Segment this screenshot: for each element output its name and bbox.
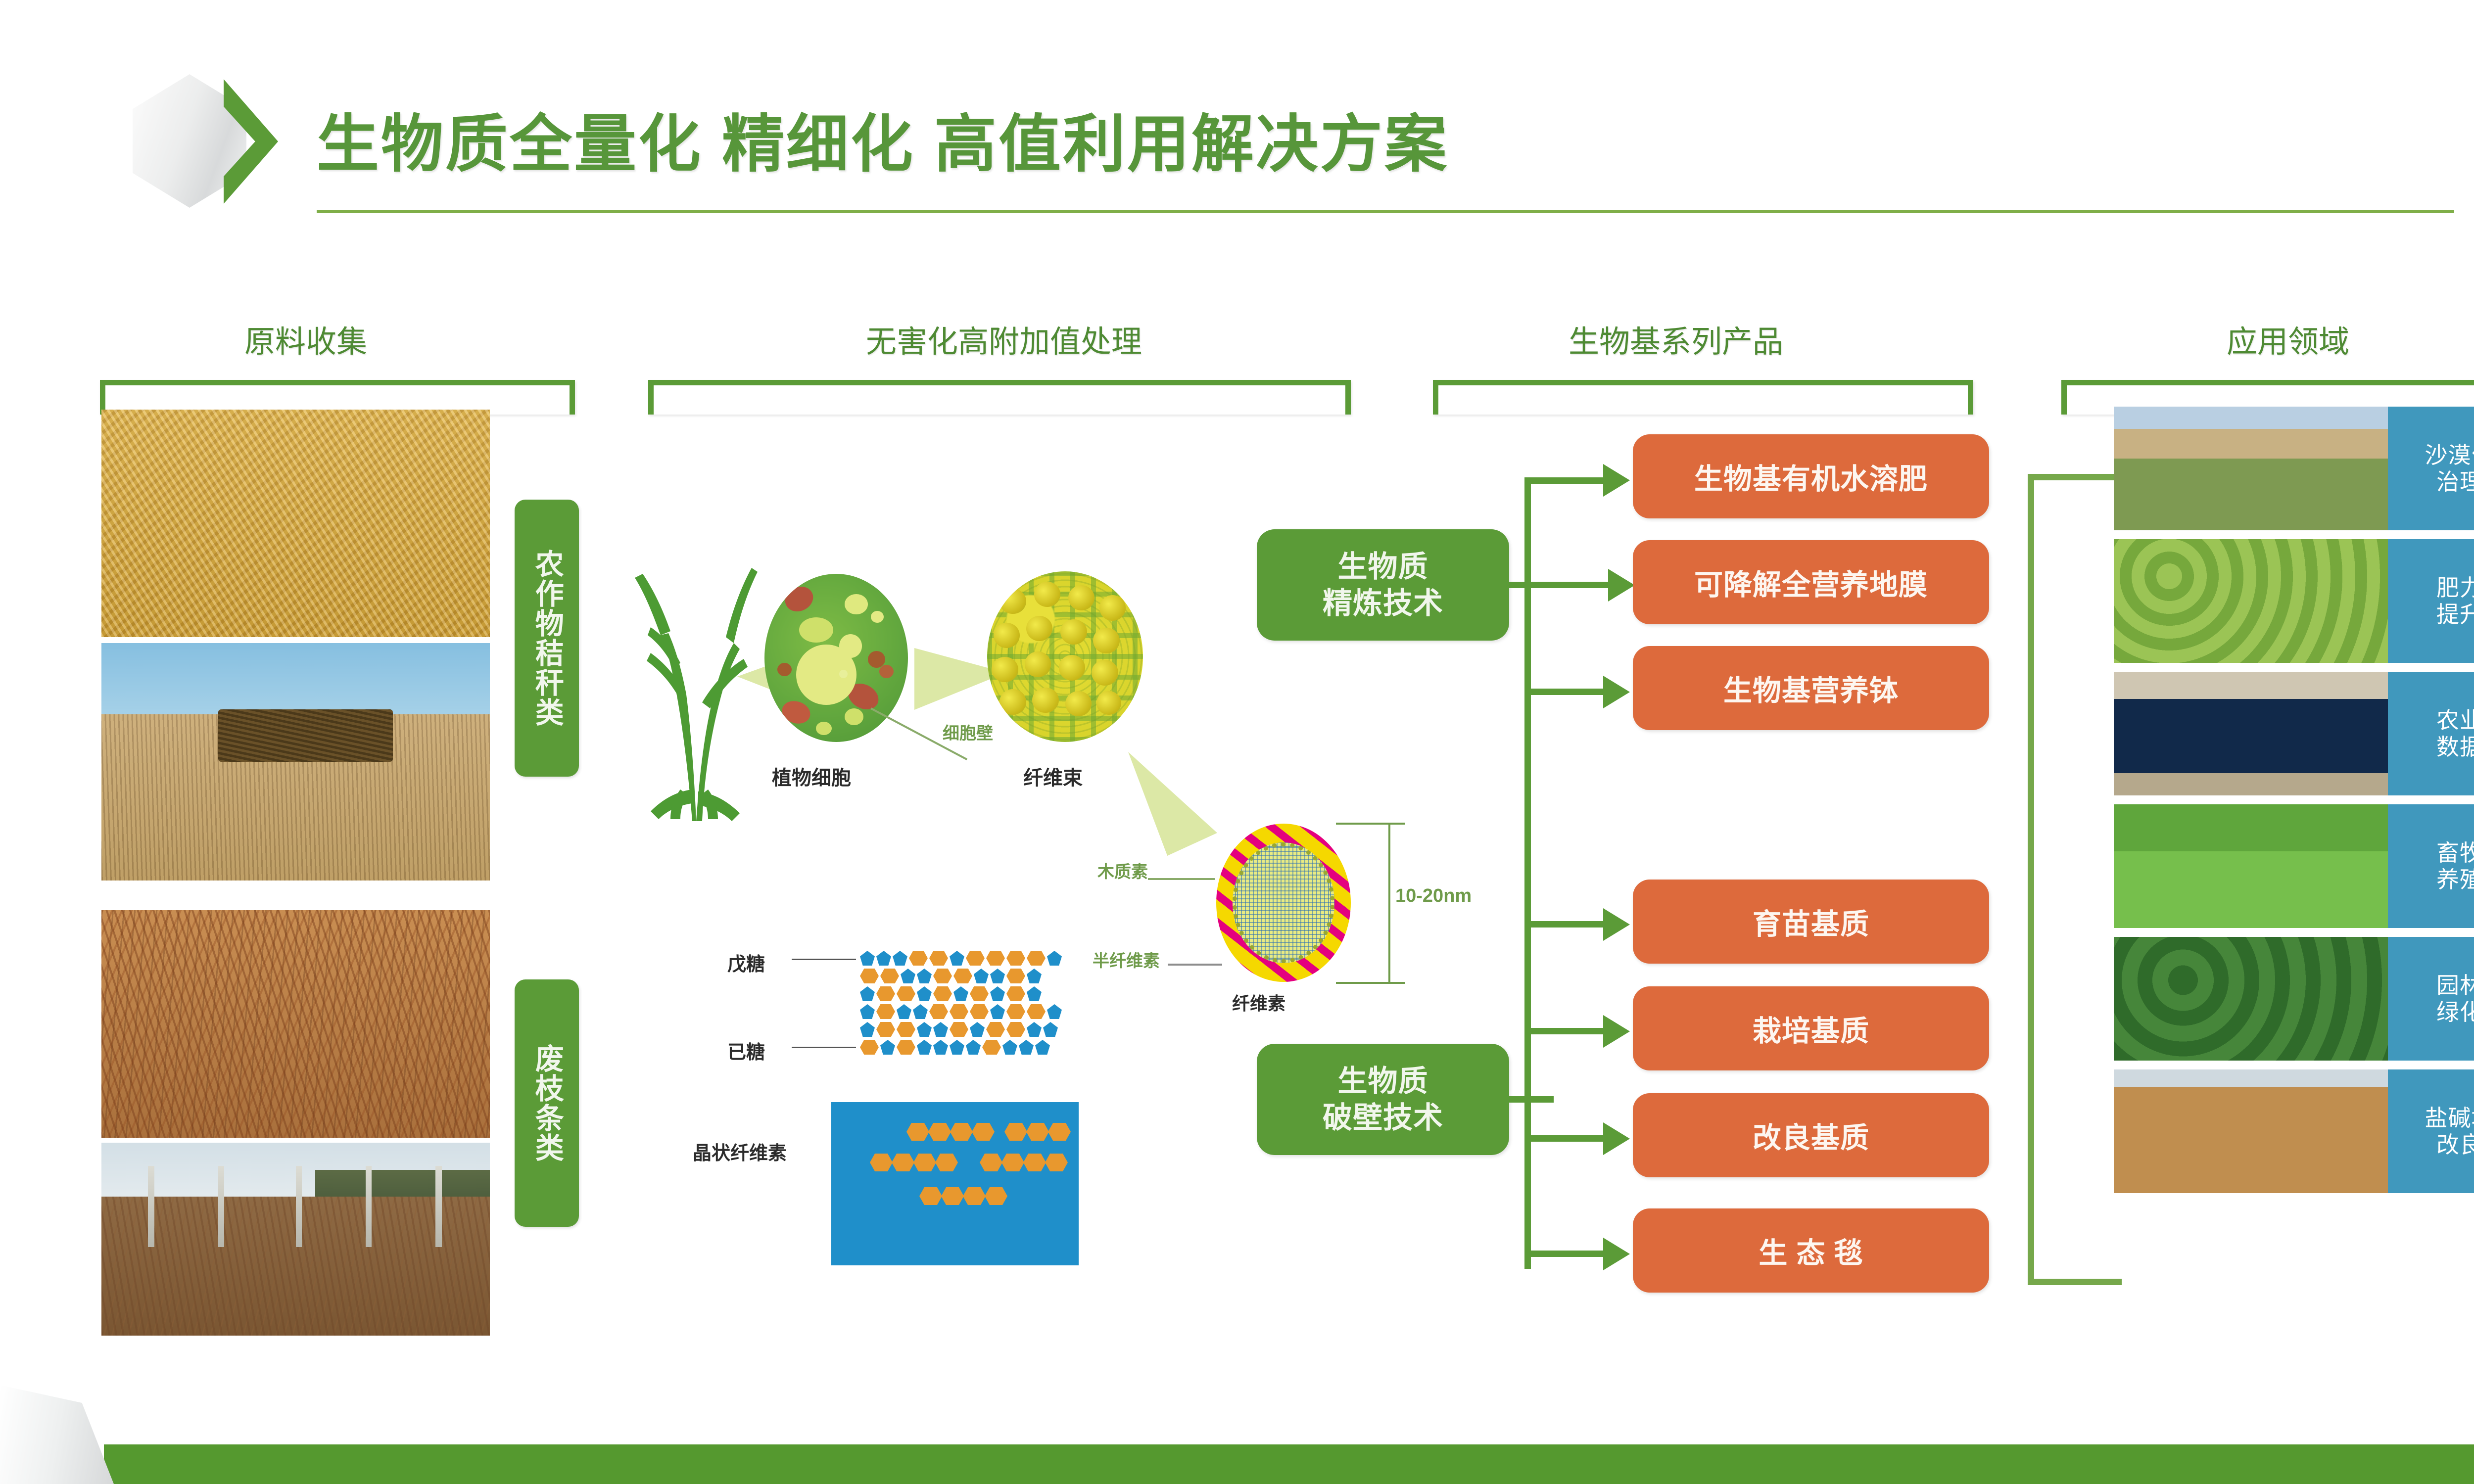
- feedstock-photo-2: [101, 643, 490, 881]
- label-pentose: 戊糖: [727, 949, 765, 976]
- footer-wedge-decoration: [0, 1385, 114, 1484]
- application-photo-agri-data: [2114, 672, 2391, 795]
- bracket-processing: [648, 380, 1351, 415]
- product-box-amendment-substrate[interactable]: 改良基质: [1633, 1093, 1989, 1177]
- arrow-head-5: [1603, 1015, 1630, 1048]
- arrow-head-2: [1608, 569, 1635, 602]
- application-photo-livestock: [2114, 804, 2391, 928]
- sugar-chain-row-5: [860, 1022, 1058, 1037]
- dim-vertical-line: [1388, 823, 1390, 984]
- section-label-applications: 应用领域: [2227, 317, 2349, 361]
- title-divider: [317, 210, 2454, 213]
- tech-refining-line2: 精炼技术: [1323, 585, 1443, 621]
- section-label-products: 生物基系列产品: [1569, 317, 1783, 361]
- dim-bottom-line: [1336, 982, 1405, 984]
- label-hemicellulose: 半纤维素: [1093, 947, 1160, 972]
- bracket-products: [1433, 380, 1973, 415]
- application-tag-livestock[interactable]: 畜牧 养殖: [2388, 804, 2474, 928]
- application-landscaping-line2: 绿化: [2436, 999, 2474, 1025]
- bracket-to-applications: [2028, 474, 2122, 1285]
- tech-disruption-line2: 破壁技术: [1323, 1100, 1443, 1136]
- label-fiber-dimension: 10-20nm: [1395, 885, 1472, 907]
- product-box-seedling-substrate[interactable]: 育苗基质: [1633, 880, 1989, 964]
- application-tag-desert[interactable]: 沙漠化 治理: [2388, 407, 2474, 530]
- arrow-head-3: [1603, 676, 1630, 708]
- sugar-chain-row-6: [860, 1040, 1050, 1055]
- product-box-biodegradable-mulch-film[interactable]: 可降解全营养地膜: [1633, 540, 1989, 624]
- application-tag-agri-data[interactable]: 农业 数据: [2388, 672, 2474, 795]
- application-desert-line2: 治理: [2436, 468, 2474, 495]
- tech-box-cellwall-disruption[interactable]: 生物质 破壁技术: [1257, 1044, 1509, 1155]
- application-photo-saline-soil: [2114, 1069, 2391, 1193]
- lignin-leader-line: [1148, 878, 1215, 880]
- label-cellulose: 纤维素: [1232, 989, 1285, 1015]
- arrow-head-6: [1603, 1122, 1630, 1155]
- application-livestock-line2: 养殖: [2436, 866, 2474, 893]
- product-box-cultivation-substrate[interactable]: 栽培基质: [1633, 986, 1989, 1070]
- product-box-eco-blanket[interactable]: 生 态 毯: [1633, 1208, 1989, 1293]
- label-crystalline-cellulose: 晶状纤维素: [693, 1138, 787, 1165]
- tech-disruption-line1: 生物质: [1338, 1063, 1428, 1099]
- application-tag-landscaping[interactable]: 园林 绿化: [2388, 937, 2474, 1061]
- arrow-head-7: [1603, 1238, 1630, 1270]
- application-desert-line1: 沙漠化: [2425, 442, 2474, 468]
- label-plant-cell: 植物细胞: [772, 762, 851, 790]
- feedstock-photo-1: [101, 410, 490, 637]
- product-box-water-soluble-fertilizer[interactable]: 生物基有机水溶肥: [1633, 434, 1989, 518]
- tech-refining-line1: 生物质: [1338, 549, 1428, 585]
- application-tag-saline-soil[interactable]: 盐碱地 改良: [2388, 1069, 2474, 1193]
- product-box-nutrient-pot[interactable]: 生物基营养钵: [1633, 646, 1989, 730]
- hemicellulose-leader-line: [1168, 964, 1222, 966]
- grass-plant-icon: [631, 544, 760, 821]
- label-lignin: 木质素: [1097, 858, 1148, 882]
- label-hexose: 已糖: [727, 1037, 765, 1064]
- section-label-processing: 无害化高附加值处理: [866, 317, 1142, 361]
- section-label-feedstock: 原料收集: [244, 317, 367, 361]
- feedstock-photo-4: [101, 1143, 490, 1336]
- application-livestock-line1: 畜牧: [2436, 839, 2474, 866]
- footer-bar: [104, 1444, 2474, 1484]
- application-photo-desert: [2114, 407, 2391, 530]
- application-photo-landscaping: [2114, 937, 2391, 1061]
- application-agridata-line1: 农业: [2436, 707, 2474, 734]
- cellulose-cross-section: [1216, 824, 1351, 982]
- label-cell-wall: 细胞壁: [943, 720, 993, 744]
- feedstock-tag-waste-branches: 废枝条类: [515, 979, 579, 1227]
- arrow-head-1: [1603, 464, 1630, 497]
- label-fiber-bundle: 纤维束: [1023, 762, 1083, 790]
- application-fertility-line2: 提升: [2436, 601, 2474, 628]
- arrow-head-4: [1603, 908, 1630, 941]
- connector-stub-bottom: [1509, 1096, 1554, 1103]
- application-saline-line2: 改良: [2436, 1131, 2474, 1158]
- crystalline-cellulose-diagram: [831, 1102, 1079, 1265]
- tech-box-refining[interactable]: 生物质 精炼技术: [1257, 529, 1509, 641]
- feedstock-photo-3: [101, 910, 490, 1138]
- sugar-chain-row-1: [860, 951, 1062, 966]
- magnify-cone-3: [1128, 752, 1217, 856]
- feedstock-tag-crop-straw: 农作物秸秆类: [515, 500, 579, 777]
- sugar-chain-row-4: [860, 1004, 1062, 1019]
- application-fertility-line1: 肥力: [2436, 574, 2474, 601]
- application-landscaping-line1: 园林: [2436, 972, 2474, 999]
- pentose-leader-line: [792, 959, 856, 960]
- hexose-leader-line: [792, 1047, 856, 1048]
- infographic-canvas: 生物质全量化 精细化 高值利用解决方案 原料收集 无害化高附加值处理 生物基系列…: [0, 0, 2474, 1484]
- page-title: 生物质全量化 精细化 高值利用解决方案: [317, 94, 1449, 184]
- application-saline-line1: 盐碱地: [2425, 1105, 2474, 1131]
- connector-spine-bottom: [1524, 921, 1531, 1257]
- application-tag-fertility[interactable]: 肥力 提升: [2388, 539, 2474, 663]
- fiber-bundle-illustration: [987, 571, 1143, 742]
- dim-top-line: [1336, 823, 1405, 825]
- sugar-chain-row-2: [860, 969, 1042, 983]
- sugar-chain-row-3: [860, 986, 1042, 1001]
- application-photo-fertility: [2114, 539, 2391, 663]
- application-agridata-line2: 数据: [2436, 734, 2474, 760]
